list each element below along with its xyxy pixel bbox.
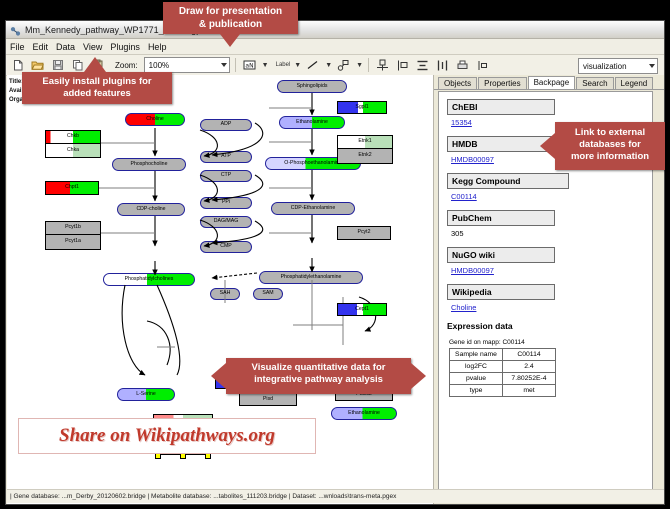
gene-etnk2[interactable]: Etnk2 — [338, 149, 392, 163]
callout-visualize-line2: integrative pathway analysis — [226, 374, 411, 386]
callout-plugins-line1: Easily install plugins for — [22, 76, 172, 88]
db-header-nugo: NuGO wiki — [447, 247, 555, 263]
line-tool-icon[interactable] — [304, 57, 321, 74]
callout-visualize-line1: Visualize quantitative data for — [226, 362, 411, 374]
cell-log2fc-value: 2.4 — [503, 361, 556, 373]
callout-plugins-arrow — [84, 57, 106, 72]
gene-pisd[interactable]: Pisd — [239, 393, 297, 406]
zoom-combo[interactable]: 100% — [144, 57, 230, 73]
chevron-down-icon — [221, 63, 227, 67]
gene-pcyt1a[interactable]: Pcyt1a — [46, 235, 100, 249]
toolbar-separator-2 — [368, 58, 369, 72]
db-header-pubchem: PubChem — [447, 210, 555, 226]
open-folder-icon[interactable] — [29, 57, 46, 74]
expression-table: Sample name C00114 log2FC 2.4 pvalue 7.8… — [449, 348, 556, 397]
callout-links-line3: more information — [555, 151, 665, 163]
menu-item-view[interactable]: View — [83, 42, 102, 52]
label-dropdown-arrow[interactable]: ▼ — [294, 62, 301, 69]
db-header-wikipedia: Wikipedia — [447, 284, 555, 300]
svg-text:aN: aN — [245, 63, 253, 70]
cell-sample-name-label: Sample name — [450, 349, 503, 361]
cell-type-label: type — [450, 385, 503, 397]
cell-pvalue-label: pvalue — [450, 373, 503, 385]
gene-pcyt2[interactable]: Pcyt2 — [337, 226, 391, 240]
callout-visualize-arrow-right — [411, 363, 426, 389]
gene-group-etnk[interactable]: Etnk1 Etnk2 — [337, 135, 393, 164]
zoom-label: Zoom: — [115, 61, 138, 70]
print-icon[interactable] — [454, 57, 471, 74]
visualization-value: visualization — [583, 62, 627, 71]
callout-draw-line1: Draw for presentation — [163, 6, 298, 19]
callout-draw-line2: & publication — [163, 19, 298, 32]
tab-backpage[interactable]: Backpage — [528, 76, 576, 89]
title-bar: Mm_Kennedy_pathway_WP1771_45176.gpml — [6, 21, 664, 39]
callout-draw-for-publication: Draw for presentation & publication — [163, 2, 298, 34]
gene-id-on-mapp: Gene id on mapp: C00114 — [449, 339, 644, 346]
tab-legend[interactable]: Legend — [615, 77, 654, 89]
table-row: type met — [450, 385, 556, 397]
callout-external-links: Link to external databases for more info… — [555, 122, 665, 170]
save-icon[interactable] — [49, 57, 66, 74]
shape-tool-icon[interactable] — [335, 57, 352, 74]
db-header-chebi: ChEBI — [447, 99, 555, 115]
gene-group-chk[interactable]: Chkb Chka — [45, 130, 101, 158]
side-panel-tabs: Objects Properties Backpage Search Legen… — [434, 75, 665, 90]
visualization-combo[interactable]: visualization — [578, 58, 658, 74]
gene-cept1[interactable]: Cept1 — [337, 303, 387, 316]
db-link-wikipedia[interactable]: Choline — [451, 303, 644, 312]
new-file-icon[interactable] — [9, 57, 26, 74]
share-banner-text: Share on Wikipathways.org — [59, 425, 275, 447]
menu-item-file[interactable]: File — [10, 42, 25, 52]
table-row: log2FC 2.4 — [450, 361, 556, 373]
tab-properties[interactable]: Properties — [478, 77, 526, 89]
cell-log2fc-label: log2FC — [450, 361, 503, 373]
group-icon[interactable] — [474, 57, 491, 74]
expression-data-heading: Expression data — [447, 321, 644, 331]
gene-group-pcyt1[interactable]: Pcyt1b Pcyt1a — [45, 221, 101, 250]
db-header-hmdb: HMDB — [447, 136, 555, 152]
db-header-kegg: Kegg Compound — [447, 173, 569, 189]
cell-sample-name-value: C00114 — [503, 349, 556, 361]
datanode-icon[interactable]: aN — [241, 57, 258, 74]
share-banner: Share on Wikipathways.org — [18, 418, 316, 454]
pathvisio-app-icon — [10, 24, 21, 35]
table-row: pvalue 7.80252E-4 — [450, 373, 556, 385]
zoom-value: 100% — [149, 61, 169, 70]
callout-visualize-data: Visualize quantitative data for integrat… — [226, 358, 411, 394]
callout-install-plugins: Easily install plugins for added feature… — [22, 72, 172, 104]
db-link-kegg[interactable]: C00114 — [451, 192, 644, 201]
gene-chka[interactable]: Chka — [46, 144, 100, 157]
callout-links-line1: Link to external — [555, 127, 665, 139]
cell-type-value: met — [503, 385, 556, 397]
menu-item-data[interactable]: Data — [56, 42, 75, 52]
gene-chpt1[interactable]: Chpt1 — [45, 181, 99, 195]
callout-plugins-line2: added features — [22, 88, 172, 100]
label-tool-label[interactable]: Label — [276, 62, 291, 68]
callout-visualize-arrow-left — [211, 363, 226, 389]
gene-sgpl1[interactable]: Sgpl1 — [337, 101, 387, 114]
callout-links-arrow — [540, 133, 555, 159]
align-top-icon[interactable] — [374, 57, 391, 74]
callout-draw-arrow — [220, 34, 240, 47]
gene-pcyt1b[interactable]: Pcyt1b — [46, 222, 100, 235]
align-center-icon[interactable] — [434, 57, 451, 74]
gene-chkb[interactable]: Chkb — [46, 131, 100, 144]
cell-pvalue-value: 7.80252E-4 — [503, 373, 556, 385]
menu-bar: File Edit Data View Plugins Help — [6, 39, 664, 55]
menu-item-help[interactable]: Help — [148, 42, 167, 52]
table-row: Sample name C00114 — [450, 349, 556, 361]
db-link-nugo[interactable]: HMDB00097 — [451, 266, 644, 275]
chevron-down-icon-2 — [649, 64, 655, 68]
line-dropdown-arrow[interactable]: ▼ — [325, 62, 332, 69]
gene-etnk1[interactable]: Etnk1 — [338, 136, 392, 149]
menu-item-edit[interactable]: Edit — [33, 42, 49, 52]
datanode-dropdown-arrow[interactable]: ▼ — [262, 62, 269, 69]
align-left-icon[interactable] — [394, 57, 411, 74]
tab-search[interactable]: Search — [576, 77, 613, 89]
screenshot-root: Mm_Kennedy_pathway_WP1771_45176.gpml Fil… — [0, 0, 670, 509]
align-middle-icon[interactable] — [414, 57, 431, 74]
toolbar-separator — [235, 58, 236, 72]
callout-links-line2: databases for — [555, 139, 665, 151]
menu-item-plugins[interactable]: Plugins — [110, 42, 140, 52]
shape-dropdown-arrow[interactable]: ▼ — [356, 62, 363, 69]
db-value-pubchem: 305 — [451, 229, 644, 238]
tab-objects[interactable]: Objects — [438, 77, 477, 89]
